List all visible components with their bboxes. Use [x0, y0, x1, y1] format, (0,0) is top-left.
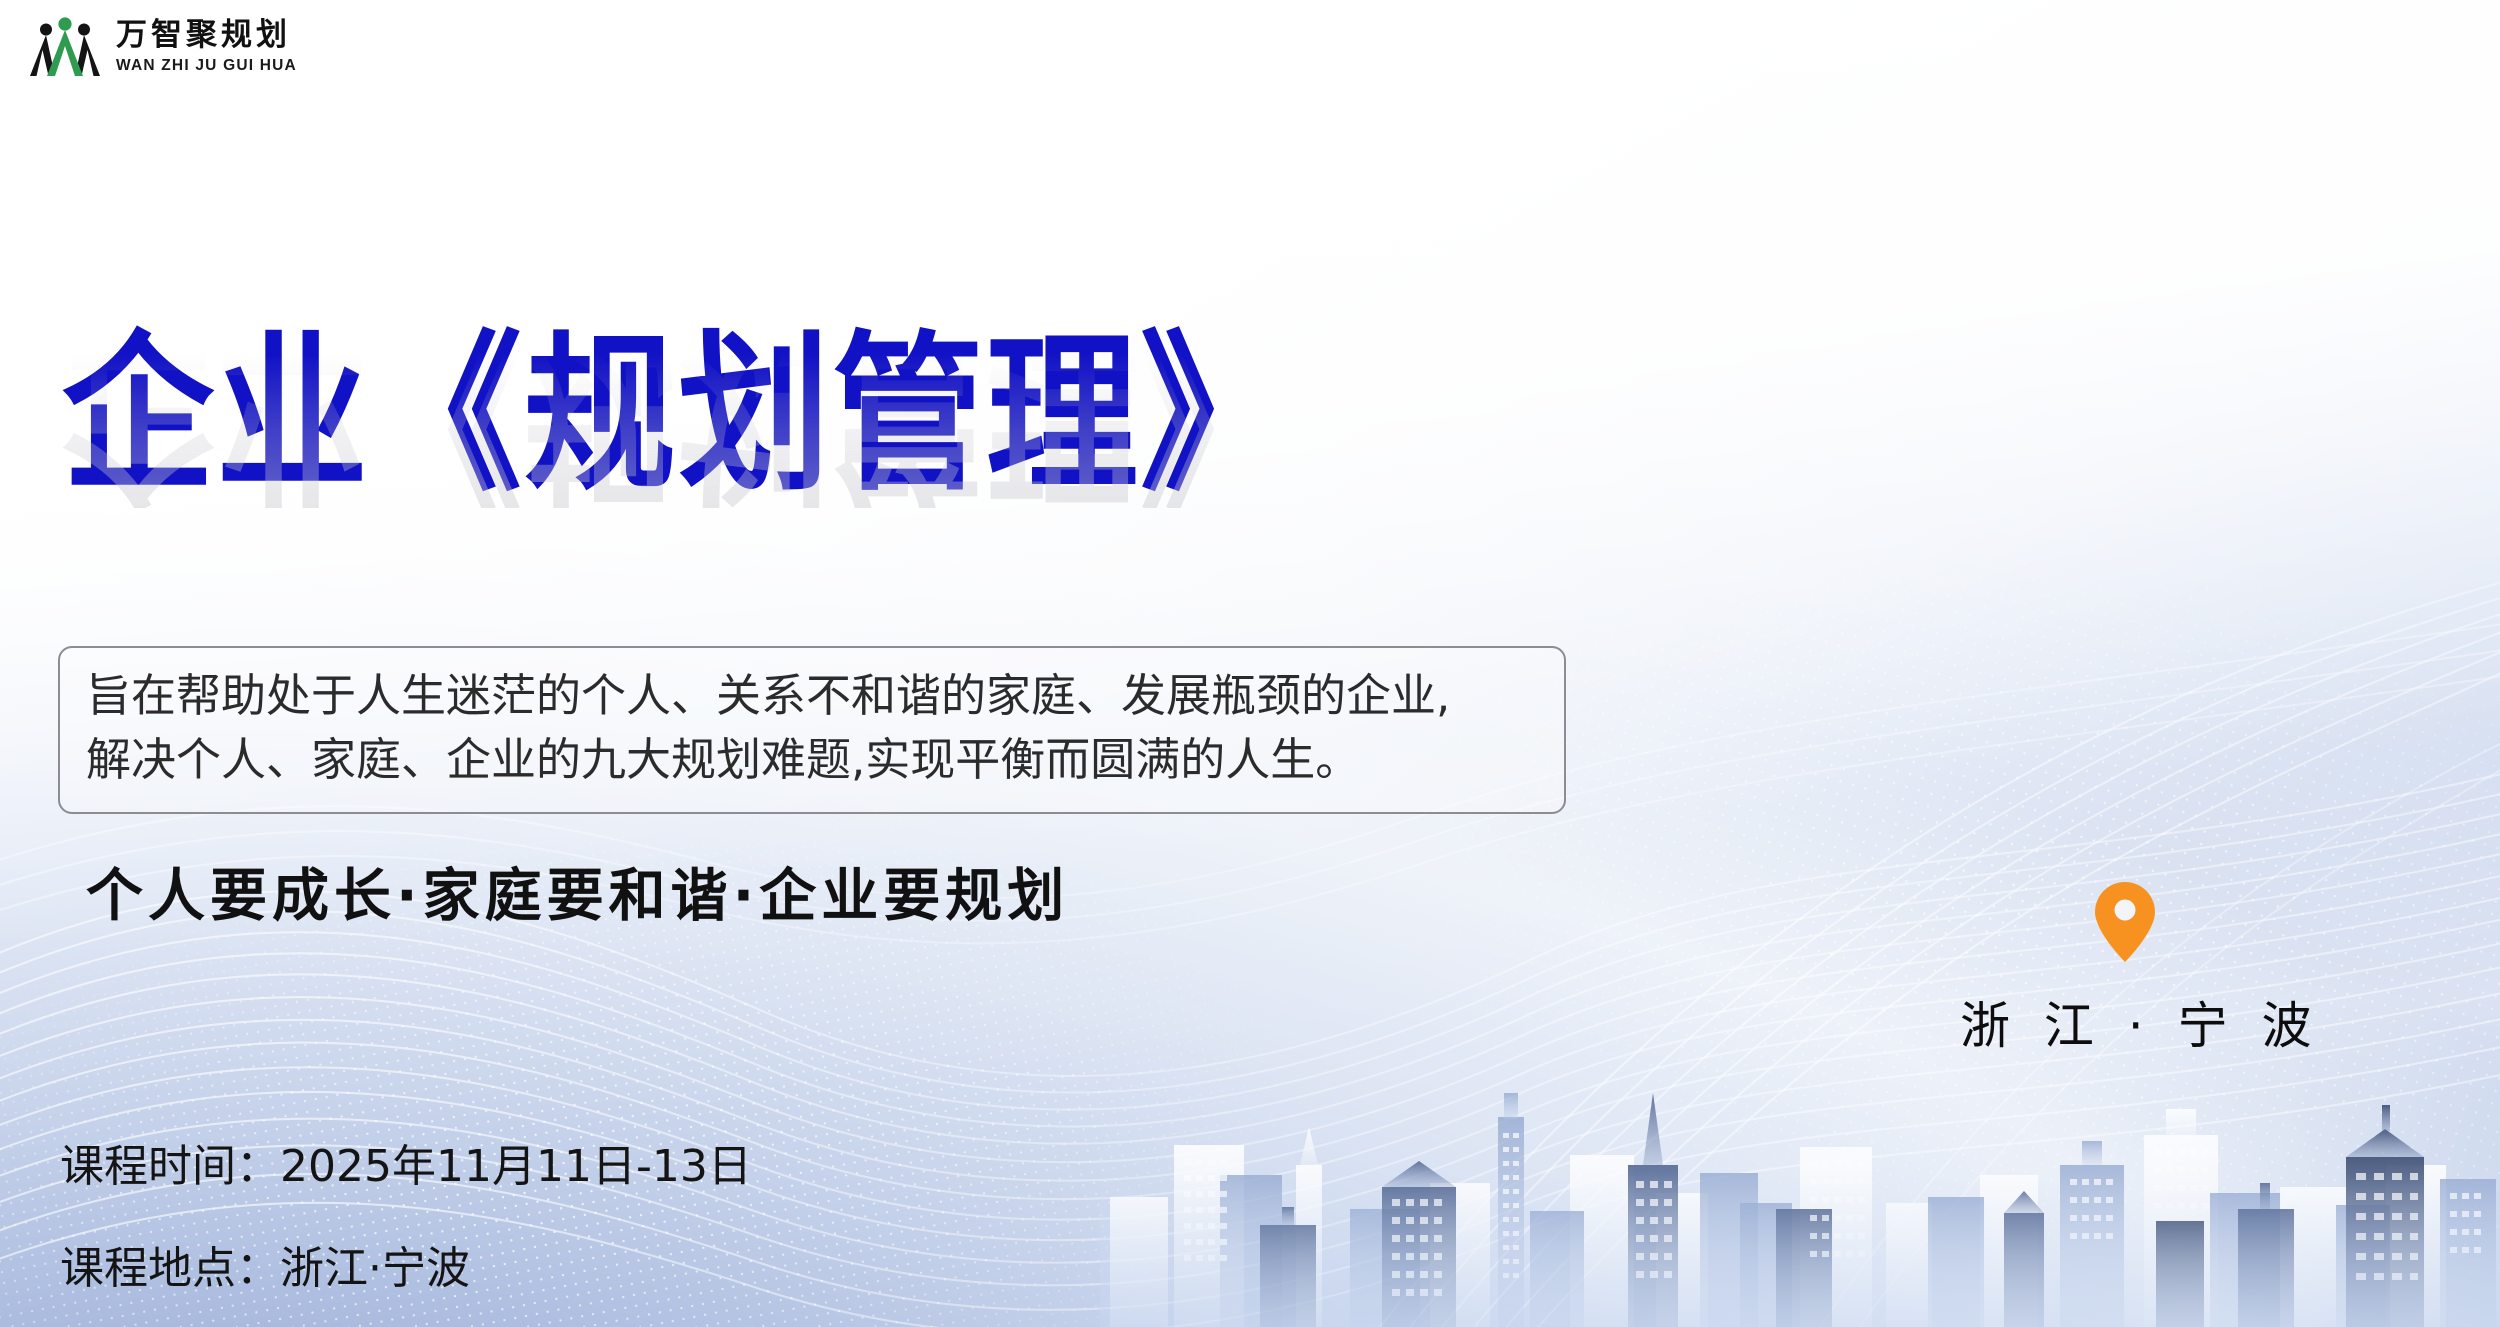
course-time: 课程时间：2025年11月11日-13日 — [60, 1130, 752, 1194]
brand-name-en: WAN ZHI JU GUI HUA — [116, 58, 297, 74]
hero-title-block: 企业《规划管理》 企业《规划管理》 — [62, 330, 1294, 482]
poster-canvas: 万智聚规划 WAN ZHI JU GUI HUA 企业《规划管理》 企业《规划管… — [0, 0, 2500, 1327]
tagline: 个人要成长·家庭要和谐·企业要规划 — [86, 850, 1069, 932]
brand-text: 万智聚规划 WAN ZHI JU GUI HUA — [116, 20, 297, 74]
description-line-1: 旨在帮助处于人生迷茫的个人、关系不和谐的家庭、发展瓶颈的企业, — [86, 664, 1538, 728]
brand-name-cn: 万智聚规划 — [116, 20, 297, 51]
page-title-reflection: 企业《规划管理》 — [62, 338, 1294, 508]
map-pin-icon — [2093, 880, 2157, 964]
three-people-icon — [28, 14, 102, 80]
location-city: 浙 江 · 宁 波 — [1960, 986, 2290, 1058]
description-line-2: 解决个人、家庭、企业的九大规划难题,实现平衡而圆满的人生。 — [86, 728, 1538, 792]
brand-logo: 万智聚规划 WAN ZHI JU GUI HUA — [28, 14, 297, 80]
location-badge: 浙 江 · 宁 波 — [1960, 880, 2290, 1058]
course-info-block: 课程时间：2025年11月11日-13日 课程地点：浙江·宁波 — [60, 1130, 752, 1296]
description-box: 旨在帮助处于人生迷茫的个人、关系不和谐的家庭、发展瓶颈的企业, 解决个人、家庭、… — [58, 646, 1566, 814]
course-place: 课程地点：浙江·宁波 — [60, 1232, 752, 1296]
